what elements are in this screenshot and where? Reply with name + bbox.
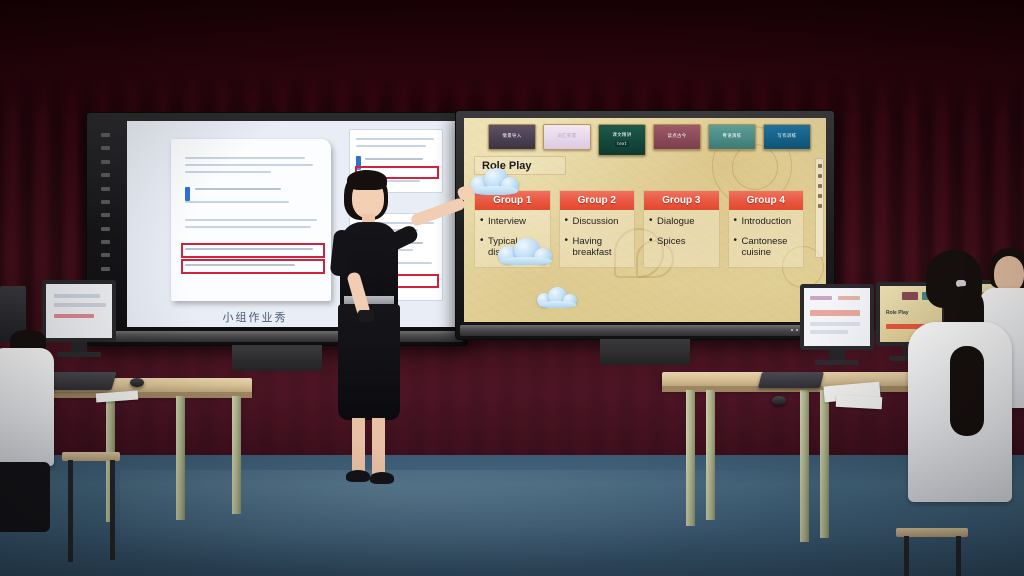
display-button[interactable] <box>101 240 110 244</box>
slide-nav-bar[interactable]: 情景导入 词汇积累 课文精讲 text 读点古今 粤语演练 写作训练 <box>488 124 816 150</box>
stool-left <box>62 452 120 562</box>
desk-leg <box>820 390 829 538</box>
student-ponytail-lower <box>950 346 984 436</box>
teacher-shoe-left <box>346 470 370 482</box>
monitor-base <box>815 360 859 365</box>
group-card-body: Introduction Cantonese cuisine <box>729 210 804 267</box>
display-brand <box>276 335 278 340</box>
display-button[interactable] <box>101 160 110 164</box>
group-card-title: Group 1 <box>475 191 550 210</box>
group-card-3[interactable]: Group 3 Dialogue Spices <box>643 190 720 268</box>
teacher-leg-right <box>372 418 385 474</box>
monitor-base <box>57 352 101 357</box>
display-button[interactable] <box>101 133 110 137</box>
display-button[interactable] <box>101 253 110 257</box>
desk-leg <box>232 396 241 514</box>
display-button[interactable] <box>101 187 110 191</box>
student-monitor-right[interactable] <box>800 284 874 350</box>
group-card-body: Dialogue Spices <box>644 210 719 255</box>
group-card-4[interactable]: Group 4 Introduction Cantonese cuisine <box>728 190 805 268</box>
classroom-scene: 小组作业秀 <box>0 0 1024 576</box>
nav-button-label: 课文精讲 <box>612 133 631 140</box>
student-right-front <box>900 250 1020 550</box>
nav-button-label: 读点古今 <box>667 134 686 141</box>
monitor-screen <box>800 284 874 350</box>
nav-button-3[interactable]: 读点古今 <box>653 124 701 150</box>
nav-button-label: 写作训练 <box>777 134 796 141</box>
stool-leg <box>110 460 115 560</box>
red-highlight-box <box>181 259 325 274</box>
group-card-body: Interview Typical dishes <box>475 210 550 267</box>
desk-leg <box>800 390 809 542</box>
display-button[interactable] <box>101 227 110 231</box>
group-card-title: Group 2 <box>560 191 635 210</box>
group-item: Cantonese cuisine <box>734 236 799 258</box>
nav-button-label: 词汇积累 <box>557 134 576 141</box>
display-wall-mount <box>232 345 322 371</box>
student-lower-body <box>0 462 50 532</box>
keyboard-right[interactable] <box>758 372 824 388</box>
papers-right-2 <box>836 395 883 409</box>
slide-side-toolbar[interactable] <box>815 158 824 258</box>
student-shirt <box>0 348 54 466</box>
teacher <box>318 168 478 498</box>
desk-leg <box>176 396 185 520</box>
group-item: Spices <box>649 236 714 247</box>
student-left <box>0 330 62 530</box>
nav-button-label: 情景导入 <box>502 134 521 141</box>
monitor-content-document <box>804 288 870 346</box>
group-card-title: Group 4 <box>729 191 804 210</box>
presenter-remote[interactable] <box>358 310 374 322</box>
teacher-fringe <box>347 170 387 190</box>
nav-button-4[interactable]: 粤语演练 <box>708 124 756 150</box>
nav-button-0[interactable]: 情景导入 <box>488 124 536 150</box>
right-interactive-whiteboard[interactable]: 情景导入 词汇积累 课文精讲 text 读点古今 粤语演练 写作训练 <box>455 110 835 340</box>
nav-button-label: 粤语演练 <box>722 134 741 141</box>
display-button[interactable] <box>101 267 110 271</box>
nav-button-1[interactable]: 词汇积累 <box>543 124 591 150</box>
teacher-shoe-right <box>370 472 394 484</box>
nav-button-2[interactable]: 课文精讲 text <box>598 124 646 156</box>
desk-leg <box>706 390 715 520</box>
curtain-shadow <box>0 0 1024 120</box>
mouse-right[interactable] <box>772 396 786 405</box>
toolbar-dot-icon[interactable] <box>818 194 822 198</box>
group-item: Introduction <box>734 216 799 227</box>
display-button[interactable] <box>101 213 110 217</box>
toolbar-dot-icon[interactable] <box>818 174 822 178</box>
display-wall-mount <box>600 339 690 365</box>
desk-leg <box>686 390 695 526</box>
group-item: Typical dishes <box>480 236 545 258</box>
display-button[interactable] <box>101 146 110 150</box>
group-item: Discussion <box>565 216 630 227</box>
group-item: Having breakfast <box>565 236 630 258</box>
group-card-body: Discussion Having breakfast <box>560 210 635 267</box>
display-button[interactable] <box>101 173 110 177</box>
teacher-hand <box>456 184 475 202</box>
group-card-2[interactable]: Group 2 Discussion Having breakfast <box>559 190 636 268</box>
right-display-bezel-bar <box>460 325 830 336</box>
group-item: Dialogue <box>649 216 714 227</box>
document-caption: 小组作业秀 <box>195 309 315 325</box>
document-page <box>171 139 331 301</box>
nav-button-sublabel: text <box>615 141 629 147</box>
decorative-circle <box>732 144 778 190</box>
display-button[interactable] <box>101 200 110 204</box>
red-highlight-box <box>181 243 325 258</box>
slide-title: Role Play <box>474 156 566 175</box>
mouse-left[interactable] <box>130 378 144 387</box>
nav-button-5[interactable]: 写作训练 <box>763 124 811 150</box>
group-card-1[interactable]: Group 1 Interview Typical dishes <box>474 190 551 268</box>
pen-icon <box>185 187 190 201</box>
toolbar-dot-icon[interactable] <box>818 184 822 188</box>
group-card-title: Group 3 <box>644 191 719 210</box>
slide-canvas[interactable]: 情景导入 词汇积累 课文精讲 text 读点古今 粤语演练 写作训练 <box>464 118 826 322</box>
toolbar-dot-icon[interactable] <box>818 164 822 168</box>
teacher-right-arm <box>410 197 467 227</box>
slide-title-text: Role Play <box>482 160 532 172</box>
stool-leg <box>68 460 73 562</box>
group-card-row: Group 1 Interview Typical dishes Group 2… <box>474 190 804 268</box>
toolbar-dot-icon[interactable] <box>818 204 822 208</box>
group-item: Interview <box>480 216 545 227</box>
teacher-leg-left <box>352 418 365 474</box>
